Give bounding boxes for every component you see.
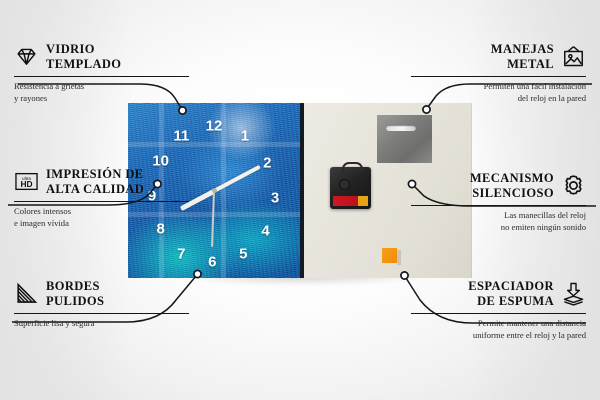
feature-header: MECANISMO SILENCIOSO xyxy=(411,171,586,201)
feature-espaciador-de-espuma: ESPACIADOR DE ESPUMA Permite mantener un… xyxy=(411,279,586,341)
feature-divider xyxy=(411,313,586,315)
feature-divider xyxy=(14,313,189,315)
gear-icon xyxy=(561,173,586,198)
feature-manejas-metal: MANEJAS METAL Permiten una fácil instala… xyxy=(411,42,586,104)
feature-impresion-alta-calidad: ultra HD IMPRESIÓN DE ALTA CALIDAD Color… xyxy=(14,167,189,229)
feature-header: ESPACIADOR DE ESPUMA xyxy=(411,279,586,309)
feature-title: MECANISMO SILENCIOSO xyxy=(470,171,554,201)
feature-subtitle: Superficie lisa y segura xyxy=(14,318,189,330)
feature-title: IMPRESIÓN DE ALTA CALIDAD xyxy=(46,167,144,197)
feature-divider xyxy=(14,76,189,78)
connector-dot-espaciador xyxy=(401,272,408,279)
feature-title: VIDRIO TEMPLADO xyxy=(46,42,121,72)
feature-mecanismo-silencioso: MECANISMO SILENCIOSO Las manecillas del … xyxy=(411,171,586,233)
feature-header: ultra HD IMPRESIÓN DE ALTA CALIDAD xyxy=(14,167,189,197)
connector-dot-manejas-metal xyxy=(423,106,430,113)
feature-title: ESPACIADOR DE ESPUMA xyxy=(468,279,554,309)
feature-divider xyxy=(411,76,586,78)
polished-edge-icon xyxy=(14,281,39,306)
connector-dot-bordes-pulidos xyxy=(194,270,201,277)
feature-header: BORDES PULIDOS xyxy=(14,279,189,309)
diamond-icon xyxy=(14,44,39,69)
foam-spacer-arrow-icon xyxy=(561,281,586,306)
feature-subtitle: Resistencia a grietas y rayones xyxy=(14,81,189,104)
connector-dot-vidrio-templado xyxy=(179,107,186,114)
feature-header: VIDRIO TEMPLADO xyxy=(14,42,189,72)
feature-bordes-pulidos: BORDES PULIDOS Superficie lisa y segura xyxy=(14,279,189,330)
feature-subtitle: Las manecillas del reloj no emiten ningú… xyxy=(411,210,586,233)
feature-header: MANEJAS METAL xyxy=(411,42,586,72)
feature-title: MANEJAS METAL xyxy=(491,42,554,72)
feature-divider xyxy=(411,205,586,207)
feature-subtitle: Colores intensos e imagen vívida xyxy=(14,206,189,229)
feature-title: BORDES PULIDOS xyxy=(46,279,104,309)
feature-subtitle: Permiten una fácil instalación del reloj… xyxy=(411,81,586,104)
ultra-hd-icon: ultra HD xyxy=(14,169,39,194)
infographic-canvas: 12 1 2 3 4 5 6 7 8 9 10 11 xyxy=(0,0,600,400)
feature-divider xyxy=(14,201,189,203)
feature-vidrio-templado: VIDRIO TEMPLADO Resistencia a grietas y … xyxy=(14,42,189,104)
picture-frame-hanger-icon xyxy=(561,44,586,69)
svg-text:HD: HD xyxy=(20,179,32,189)
feature-subtitle: Permite mantener una distancia uniforme … xyxy=(411,318,586,341)
